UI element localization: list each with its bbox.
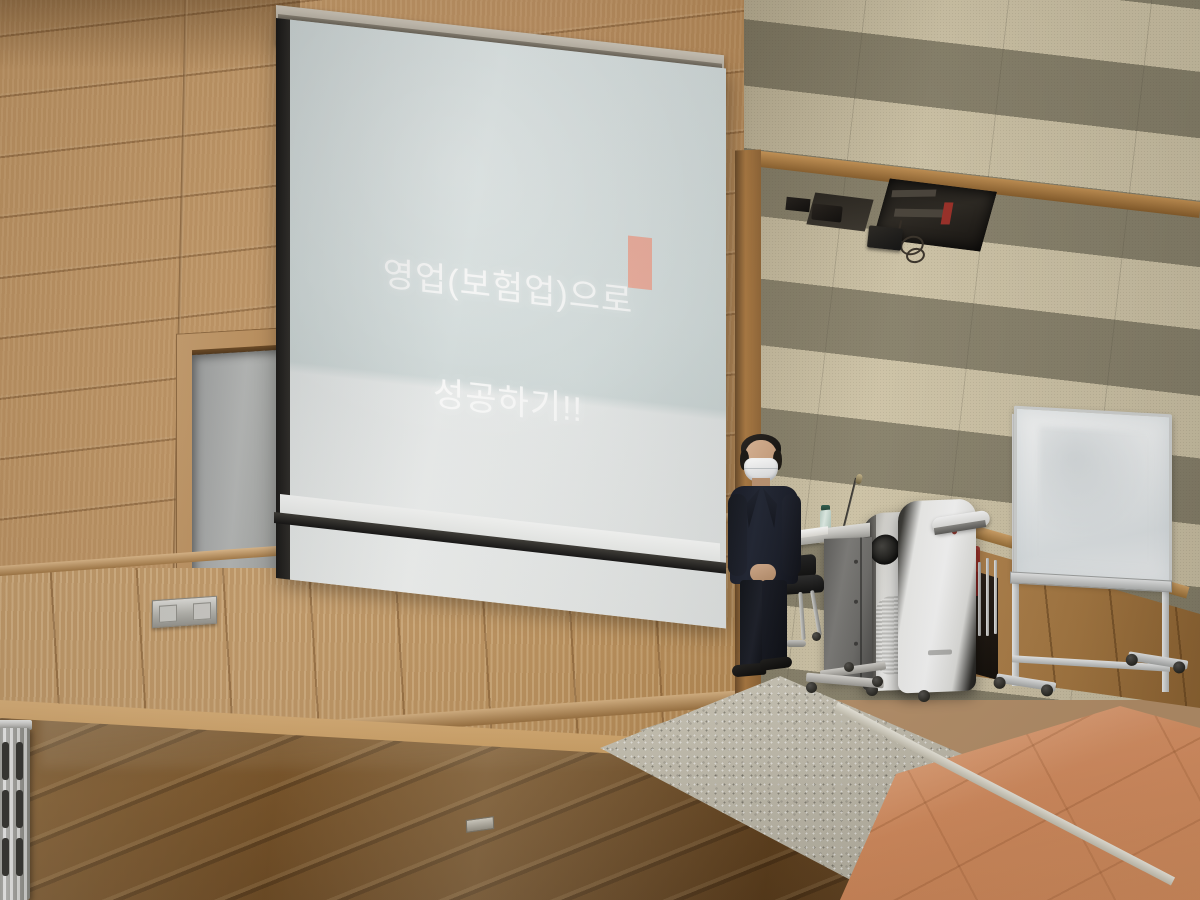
radiator-slot [2,742,9,780]
photo-scene: 영업(보험업)으로 성공하기!! [0,0,1200,900]
radiator-slot [2,790,9,828]
caster-wheel [918,690,930,702]
trouser-leg-left [740,580,764,668]
caster-wheel [1040,684,1054,698]
lectern-fastener [854,600,858,604]
mobile-whiteboard[interactable] [1000,410,1176,700]
radiator-slot [16,838,23,876]
whiteboard-foot [996,673,1057,691]
jacket-sleeve-left [728,494,747,576]
dress-shoe-right [759,656,792,671]
lectern-fastener [854,560,858,564]
chair-chrome-leg [994,560,997,634]
caster-wheel [872,676,883,687]
radiator-slot [2,838,9,876]
radiator-slot [16,742,23,780]
lectern-body[interactable] [824,537,872,681]
whiteboard-smudge [1039,426,1159,553]
whiteboard-surface[interactable] [1014,406,1172,589]
chair-chrome-leg [978,562,981,636]
radiator-slot [16,790,23,828]
ceiling-slat [891,189,936,197]
face-mask-fold [744,468,778,469]
ceiling-slat [894,209,945,218]
lectern-fastener [854,642,858,646]
ceiling-red-duct [941,202,954,224]
caster-wheel [844,662,854,672]
wall-top-shadow [0,0,300,70]
corner-speaker-icon [867,225,903,250]
jacket-sleeve-right [782,494,801,576]
lectern-panel-seam [860,538,862,680]
presenter-standing[interactable] [718,432,814,690]
chair-chrome-leg [986,558,989,636]
trouser-leg-right [762,580,787,668]
outlet-plate[interactable] [159,605,177,623]
outlet-plate[interactable] [193,602,211,620]
ac-brand-mark [928,649,952,655]
cast-iron-radiator [0,728,30,900]
corner-speaker-icon [785,197,810,212]
wall-outlet-box[interactable] [152,596,217,629]
ac-circular-vent-icon [870,534,900,565]
corner-speaker-icon [811,203,843,222]
